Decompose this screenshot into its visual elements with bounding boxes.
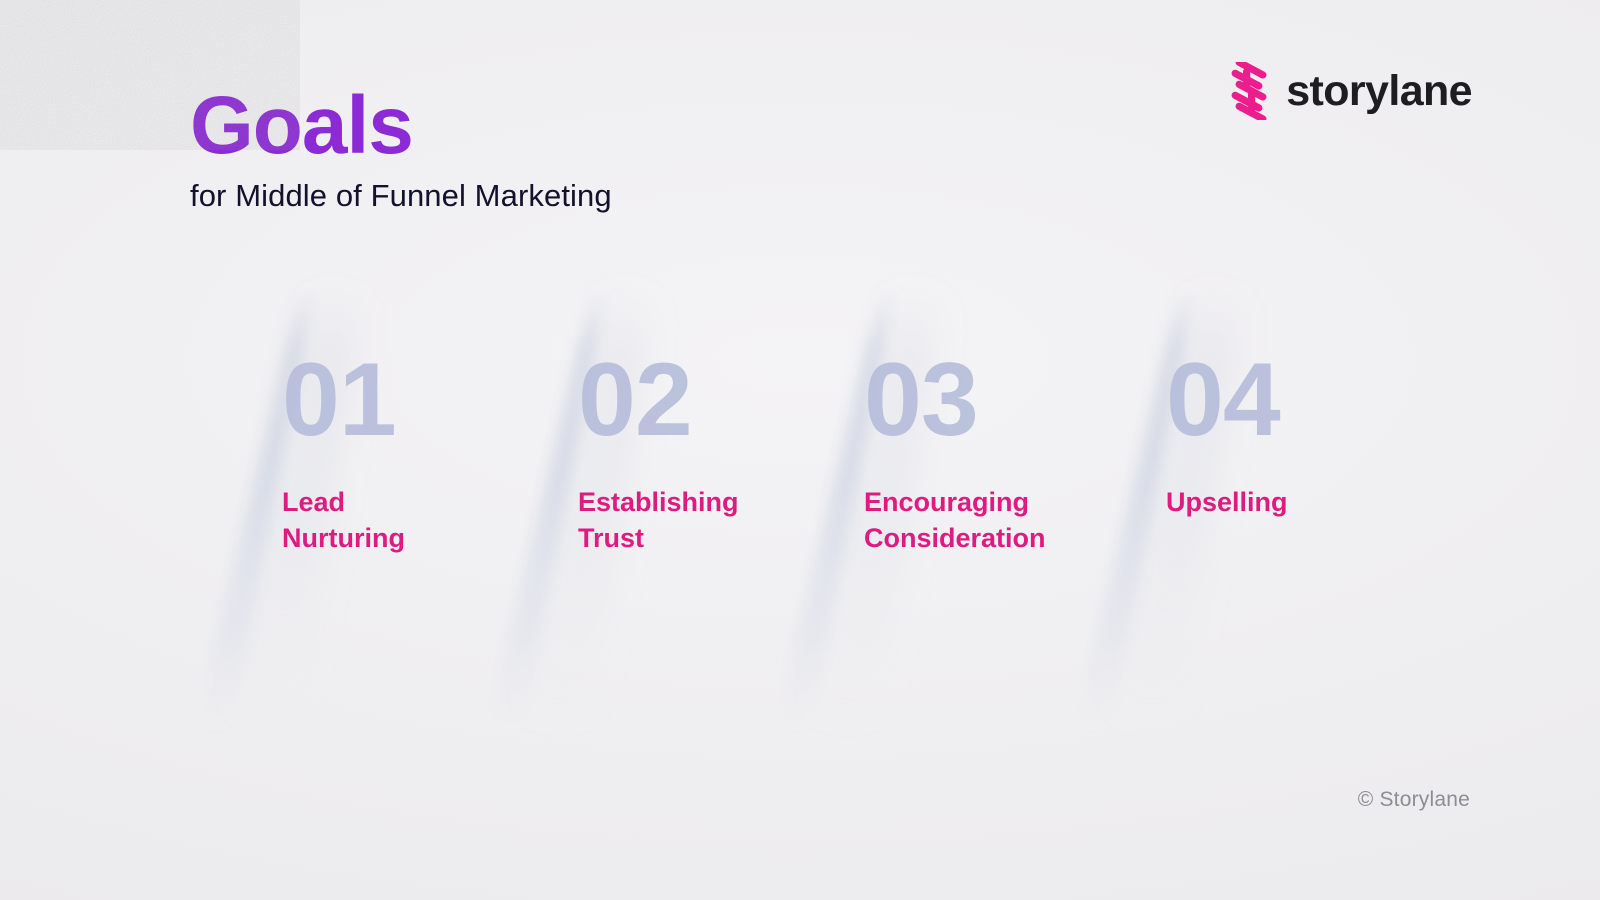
- goal-label: Lead Nurturing: [282, 484, 405, 557]
- goal-number: 01: [282, 348, 405, 452]
- goal-label: Encouraging Consideration: [864, 484, 1046, 557]
- goal-number: 02: [578, 348, 739, 452]
- goal-number: 04: [1166, 348, 1288, 452]
- goal-label: Upselling: [1166, 484, 1288, 520]
- page-subtitle: for Middle of Funnel Marketing: [190, 178, 612, 214]
- goal-number: 03: [864, 348, 1046, 452]
- goal-item-1: 01 Lead Nurturing: [282, 348, 405, 557]
- goal-label: Establishing Trust: [578, 484, 739, 557]
- goal-item-4: 04 Upselling: [1166, 348, 1288, 520]
- page-title: Goals: [190, 84, 612, 168]
- slide-header: Goals for Middle of Funnel Marketing: [190, 84, 612, 214]
- slide-canvas: Goals for Middle of Funnel Marketing sto…: [0, 0, 1600, 900]
- brand-name: storylane: [1286, 67, 1472, 116]
- brand-logo: storylane: [1226, 62, 1472, 120]
- goal-item-2: 02 Establishing Trust: [578, 348, 739, 557]
- goal-item-3: 03 Encouraging Consideration: [864, 348, 1046, 557]
- storylane-s-logo-icon: [1226, 62, 1272, 120]
- copyright-notice: © Storylane: [1358, 788, 1470, 812]
